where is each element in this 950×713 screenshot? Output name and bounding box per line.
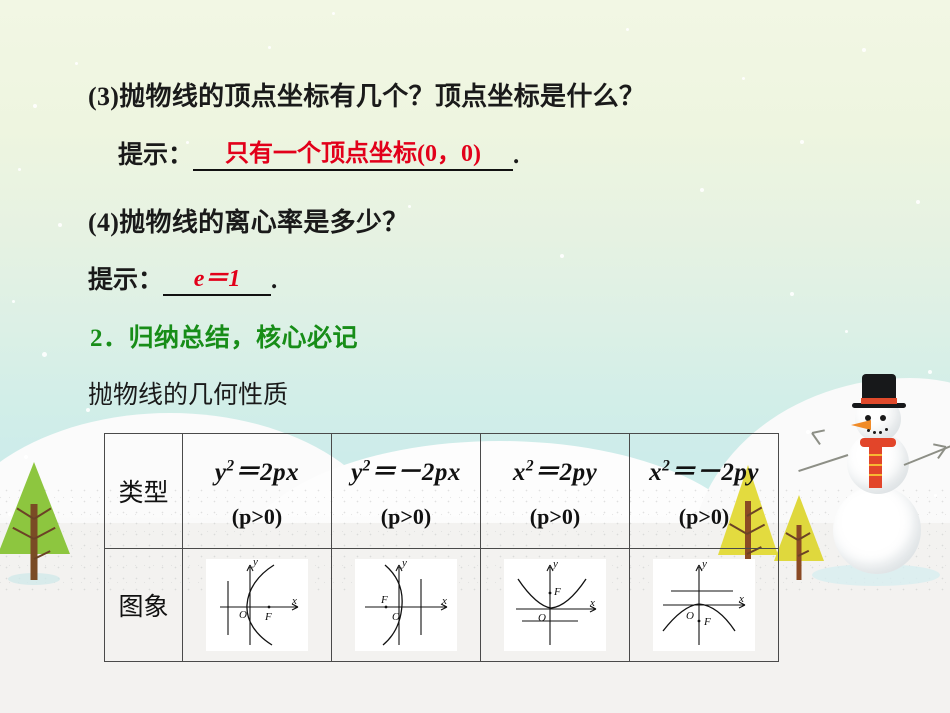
question-4-hint-row: 提示：e＝1.: [88, 258, 277, 296]
equation-2-condition: (p>0): [332, 504, 480, 530]
y-axis-label: y: [552, 559, 558, 570]
table-cell-equation-3: x2＝2py (p>0): [481, 434, 630, 549]
table-row-graph: 图象: [105, 549, 779, 662]
equation-2: y2＝－2px: [332, 452, 480, 488]
equation-4-rest: ＝－2py: [670, 459, 759, 486]
origin-label: O: [686, 610, 694, 622]
focus-point: [268, 606, 271, 609]
equation-1-condition: (p>0): [183, 504, 331, 530]
question-3-hint-row: 提示：只有一个顶点坐标(0，0).: [118, 133, 519, 171]
equation-3-var: x: [513, 459, 526, 486]
equation-2-var: y: [351, 459, 363, 486]
y-axis-label: y: [252, 559, 258, 568]
question-3-text: (3)抛物线的顶点坐标有几个？顶点坐标是什么？: [88, 76, 645, 113]
question-3-period: .: [513, 142, 519, 169]
y-axis-label: y: [701, 559, 707, 570]
table-cell-graph-2: y x O F: [332, 549, 481, 662]
focus-label: F: [553, 586, 561, 598]
table-cell-graph-3: y x O F: [481, 549, 630, 662]
table-row-label-type: 类型: [105, 434, 183, 549]
x-axis-label: x: [738, 593, 744, 605]
x-axis-label: x: [589, 597, 595, 609]
equation-3: x2＝2py: [481, 452, 629, 488]
equation-1-var: y: [215, 459, 227, 486]
equation-4-var: x: [649, 459, 662, 486]
equation-4: x2＝－2py: [630, 452, 778, 488]
equation-1-exponent: 2: [226, 458, 234, 475]
origin-label: O: [538, 612, 546, 624]
question-4-hint-label: 提示：: [88, 267, 163, 294]
origin-label: O: [239, 609, 247, 621]
table-cell-graph-1: y x O F: [183, 549, 332, 662]
focus-point: [549, 592, 552, 595]
parabola-curve: [518, 579, 586, 608]
parabola-curve: [247, 565, 274, 645]
graph-down-opening-parabola: y x O F: [653, 559, 755, 651]
x-axis-label: x: [441, 595, 447, 607]
graph-up-opening-parabola: y x O F: [504, 559, 606, 651]
graph-left-opening-parabola: y x O F: [355, 559, 457, 651]
equation-3-condition: (p>0): [481, 504, 629, 530]
question-3-hint-label: 提示：: [118, 142, 193, 169]
equation-2-rest: ＝－2px: [371, 459, 461, 486]
x-axis-label: x: [291, 595, 297, 607]
equation-3-exponent: 2: [526, 458, 534, 475]
table-cell-equation-2: y2＝－2px (p>0): [332, 434, 481, 549]
slide-content: (3)抛物线的顶点坐标有几个？顶点坐标是什么？ 提示：只有一个顶点坐标(0，0)…: [0, 0, 950, 713]
focus-label: F: [380, 594, 388, 606]
section-title: 2．归纳总结，核心必记: [90, 318, 358, 354]
focus-point: [698, 620, 701, 623]
equation-3-rest: ＝2py: [534, 459, 597, 486]
section-subtitle: 抛物线的几何性质: [88, 375, 288, 411]
focus-label: F: [703, 616, 711, 628]
origin-label: O: [392, 611, 400, 623]
row-label-text: 图象: [118, 594, 168, 621]
table-row-label-graph: 图象: [105, 549, 183, 662]
question-4-answer-blank[interactable]: e＝1: [163, 258, 271, 296]
question-3-answer-blank[interactable]: 只有一个顶点坐标(0，0): [193, 133, 513, 171]
table-cell-equation-4: x2＝－2py (p>0): [630, 434, 779, 549]
graph-right-opening-parabola: y x O F: [206, 559, 308, 651]
question-4-text: (4)抛物线的离心率是多少？: [88, 202, 409, 239]
equation-4-condition: (p>0): [630, 504, 778, 530]
table-row-type: 类型 y2＝2px (p>0) y2＝－2px (p>0) x2＝2py (p>…: [105, 434, 779, 549]
table-cell-equation-1: y2＝2px (p>0): [183, 434, 332, 549]
equation-1: y2＝2px: [183, 452, 331, 488]
y-axis-label: y: [401, 559, 407, 569]
question-4-period: .: [271, 267, 277, 294]
parabola-properties-table: 类型 y2＝2px (p>0) y2＝－2px (p>0) x2＝2py (p>…: [104, 433, 779, 662]
table-cell-graph-4: y x O F: [630, 549, 779, 662]
slide-canvas: (3)抛物线的顶点坐标有几个？顶点坐标是什么？ 提示：只有一个顶点坐标(0，0)…: [0, 0, 950, 713]
equation-1-rest: ＝2px: [235, 459, 300, 486]
focus-label: F: [264, 611, 272, 623]
row-label-text: 类型: [118, 480, 168, 507]
equation-2-exponent: 2: [363, 458, 371, 475]
focus-point: [385, 606, 388, 609]
